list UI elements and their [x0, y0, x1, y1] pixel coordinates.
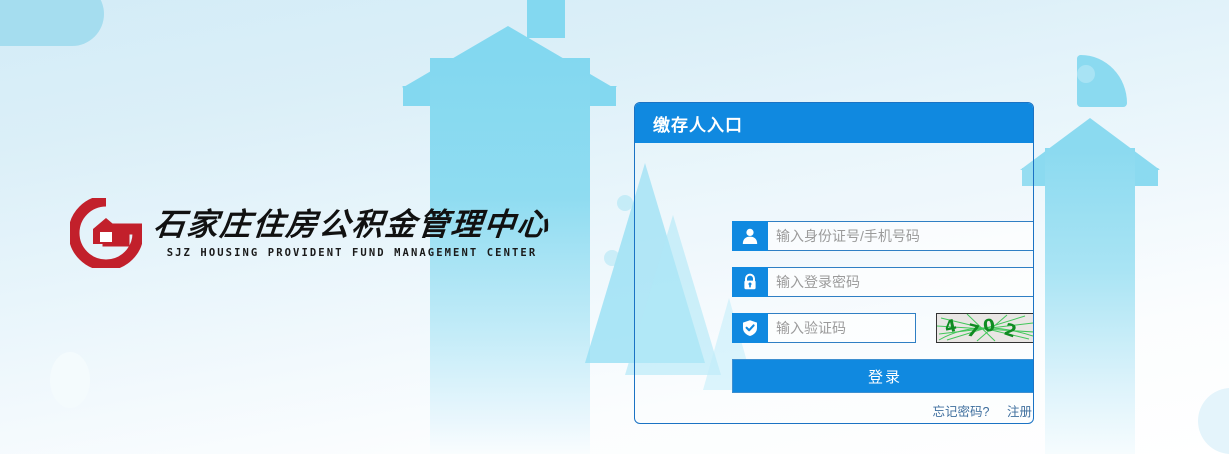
lock-icon — [732, 267, 768, 297]
captcha-image[interactable]: 4 7 0 2 — [936, 313, 1034, 343]
background-dot — [50, 352, 90, 408]
captcha-input[interactable] — [768, 313, 916, 343]
login-panel-header: 缴存人入口 — [635, 103, 1033, 143]
password-input[interactable] — [768, 267, 1034, 297]
password-field-row — [732, 267, 1034, 297]
chimney-shape — [527, 0, 565, 38]
shield-check-icon — [732, 313, 768, 343]
register-link[interactable]: 注册 — [1007, 405, 1032, 419]
login-panel-title: 缴存人入口 — [653, 111, 743, 136]
login-button[interactable]: 登录 — [732, 359, 1034, 393]
cloud-icon — [0, 0, 104, 46]
forgot-password-link[interactable]: 忘记密码? — [933, 405, 990, 419]
logo-name-en: SJZ HOUSING PROVIDENT FUND MANAGEMENT CE… — [154, 247, 550, 259]
username-field-row — [732, 221, 1034, 251]
right-house-body-shape — [1045, 148, 1135, 454]
captcha-field-row — [732, 313, 916, 343]
site-logo: 石家庄住房公积金管理中心 SJZ HOUSING PROVIDENT FUND … — [70, 198, 550, 268]
background-dot — [1077, 65, 1095, 83]
sjz-housing-fund-logo-icon — [70, 198, 142, 268]
background-dot — [617, 195, 633, 211]
panel-links: 忘记密码? 注册 — [634, 401, 1034, 420]
username-input[interactable] — [768, 221, 1034, 251]
logo-name-cn: 石家庄住房公积金管理中心 — [152, 207, 552, 243]
login-panel: 缴存人入口 — [634, 102, 1034, 424]
background-dot — [1198, 388, 1229, 454]
background-dot — [604, 250, 620, 266]
user-icon — [732, 221, 768, 251]
login-panel-body: 4 7 0 2 登录 忘记密码? 注册 其他登录方式： 支 — [635, 143, 1033, 424]
